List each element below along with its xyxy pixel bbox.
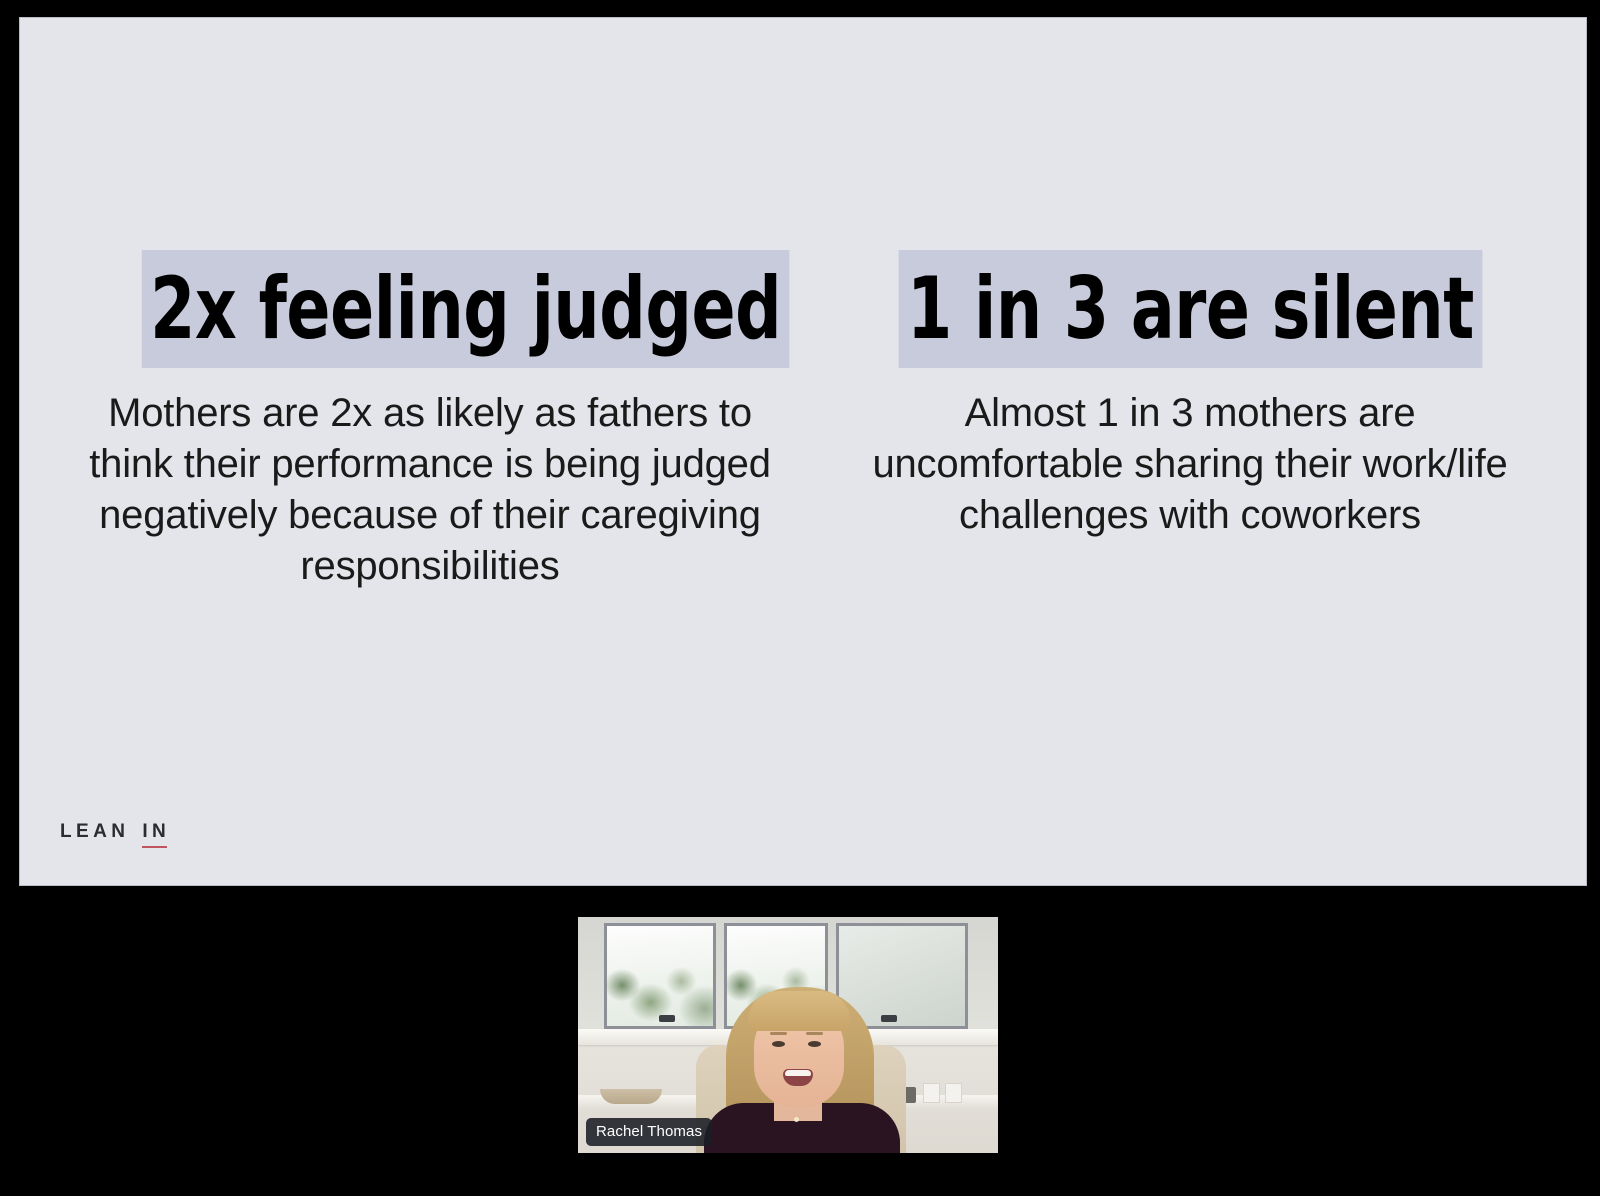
participant-eyebrow	[770, 1032, 787, 1035]
participant-hair-fringe	[748, 991, 850, 1031]
participant-necklace	[794, 1117, 799, 1122]
stat-headline-left: 2x feeling judged	[142, 250, 790, 368]
decorative-bowl	[600, 1089, 662, 1104]
brand-word-lean: LEAN	[60, 821, 129, 843]
stat-headline-container-right: 1 in 3 are silent	[840, 250, 1540, 368]
slide-column-feeling-judged: 2x feeling judged Mothers are 2x as like…	[80, 250, 780, 592]
brand-word-in: IN	[142, 821, 170, 843]
window-glass	[839, 926, 965, 1026]
wall-outlet	[923, 1083, 940, 1103]
stat-headline-right: 1 in 3 are silent	[898, 250, 1482, 368]
participant-eye	[808, 1041, 821, 1047]
lean-in-logo: LEAN IN	[60, 821, 170, 843]
stat-body-right: Almost 1 in 3 mothers are uncomfortable …	[840, 388, 1540, 541]
slide-column-are-silent: 1 in 3 are silent Almost 1 in 3 mothers …	[840, 250, 1540, 541]
participant-name-badge: Rachel Thomas	[586, 1118, 712, 1146]
window-latch-icon	[881, 1015, 897, 1022]
participant-eyebrow	[806, 1032, 823, 1035]
wall-outlet	[945, 1083, 962, 1103]
slide-two-column-layout: 2x feeling judged Mothers are 2x as like…	[20, 18, 1586, 885]
window-latch-icon	[659, 1015, 675, 1022]
window-pane-left	[604, 923, 716, 1029]
participant-video-tile[interactable]: Rachel Thomas	[578, 917, 998, 1153]
stat-body-left: Mothers are 2x as likely as fathers to t…	[80, 388, 780, 592]
participant-eye	[772, 1041, 785, 1047]
shared-slide-surface[interactable]: 2x feeling judged Mothers are 2x as like…	[20, 18, 1586, 885]
stat-headline-container-left: 2x feeling judged	[80, 250, 780, 368]
